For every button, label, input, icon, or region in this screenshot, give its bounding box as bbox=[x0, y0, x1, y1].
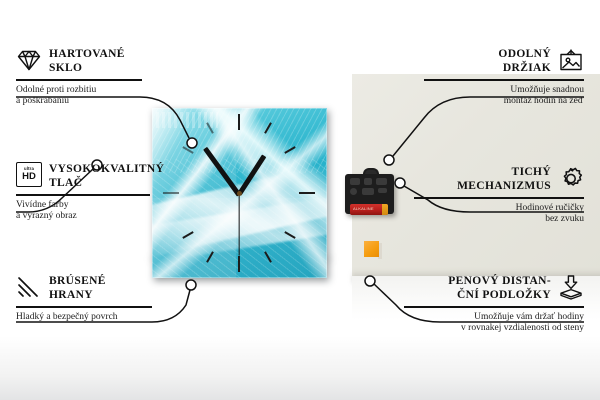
callout-description: Umožňuje snadnou montáž hodin na zeď bbox=[424, 85, 584, 108]
gear-icon bbox=[558, 165, 584, 191]
callout-tempered-glass: HARTOVANÉ SKLO Odolné proti rozbitiu a p… bbox=[16, 48, 176, 108]
foam-spacer-pad bbox=[364, 241, 382, 259]
callout-durable-hanger: ODOLNÝ DRŽIAK Umožňuje snadnou montáž ho… bbox=[424, 48, 584, 108]
callout-rule bbox=[16, 194, 150, 196]
polished-edge-icon bbox=[16, 274, 42, 300]
callout-high-quality-print: ultra HD VYSOKOKVALITNÝ TLAČ Vivídne far… bbox=[16, 163, 186, 223]
callout-rule bbox=[16, 306, 152, 308]
callout-description: Vivídne farby a výrazný obraz bbox=[16, 200, 186, 223]
callout-silent-mechanism: TICHÝ MECHANIZMUS Hodinové ručičky bez z… bbox=[414, 166, 584, 226]
callout-title: BRÚSENÉ HRANY bbox=[49, 275, 106, 302]
callout-title: ODOLNÝ DRŽIAK bbox=[498, 48, 551, 75]
callout-description: Hodinové ručičky bez zvuku bbox=[414, 203, 584, 226]
diamond-icon bbox=[16, 47, 42, 73]
callout-title: TICHÝ MECHANIZMUS bbox=[457, 166, 551, 193]
mechanism-body: ALKALINE bbox=[345, 174, 394, 214]
product-scene: ALKALINE bbox=[152, 74, 440, 318]
mechanism-battery: ALKALINE bbox=[350, 204, 388, 215]
clock-mechanism: ALKALINE bbox=[345, 168, 394, 214]
callout-description: Umožňuje vám držať hodiny v rovnakej vzd… bbox=[404, 312, 584, 335]
picture-frame-icon bbox=[558, 47, 584, 73]
callout-description: Odolné proti rozbitiu a poškrabaniu bbox=[16, 85, 176, 108]
callout-title: VYSOKOKVALITNÝ TLAČ bbox=[49, 163, 164, 190]
callout-foam-spacers: PENOVÝ DISTAN- ČNÍ PODLOŽKY Umožňuje vám… bbox=[404, 275, 584, 335]
callout-polished-edges: BRÚSENÉ HRANY Hladký a bezpečný povrch bbox=[16, 275, 186, 323]
callout-title: PENOVÝ DISTAN- ČNÍ PODLOŽKY bbox=[448, 275, 551, 302]
callout-description: Hladký a bezpečný povrch bbox=[16, 312, 186, 324]
callout-rule bbox=[16, 79, 142, 81]
ultra-hd-icon: ultra HD bbox=[16, 162, 42, 188]
ultra-hd-large-label: HD bbox=[22, 172, 36, 182]
callout-rule bbox=[414, 197, 584, 199]
product-infographic: ALKALINE bbox=[0, 0, 600, 400]
callout-rule bbox=[404, 306, 584, 308]
foam-pad-icon bbox=[558, 274, 584, 300]
callout-title: HARTOVANÉ SKLO bbox=[49, 48, 125, 75]
callout-rule bbox=[424, 79, 584, 81]
